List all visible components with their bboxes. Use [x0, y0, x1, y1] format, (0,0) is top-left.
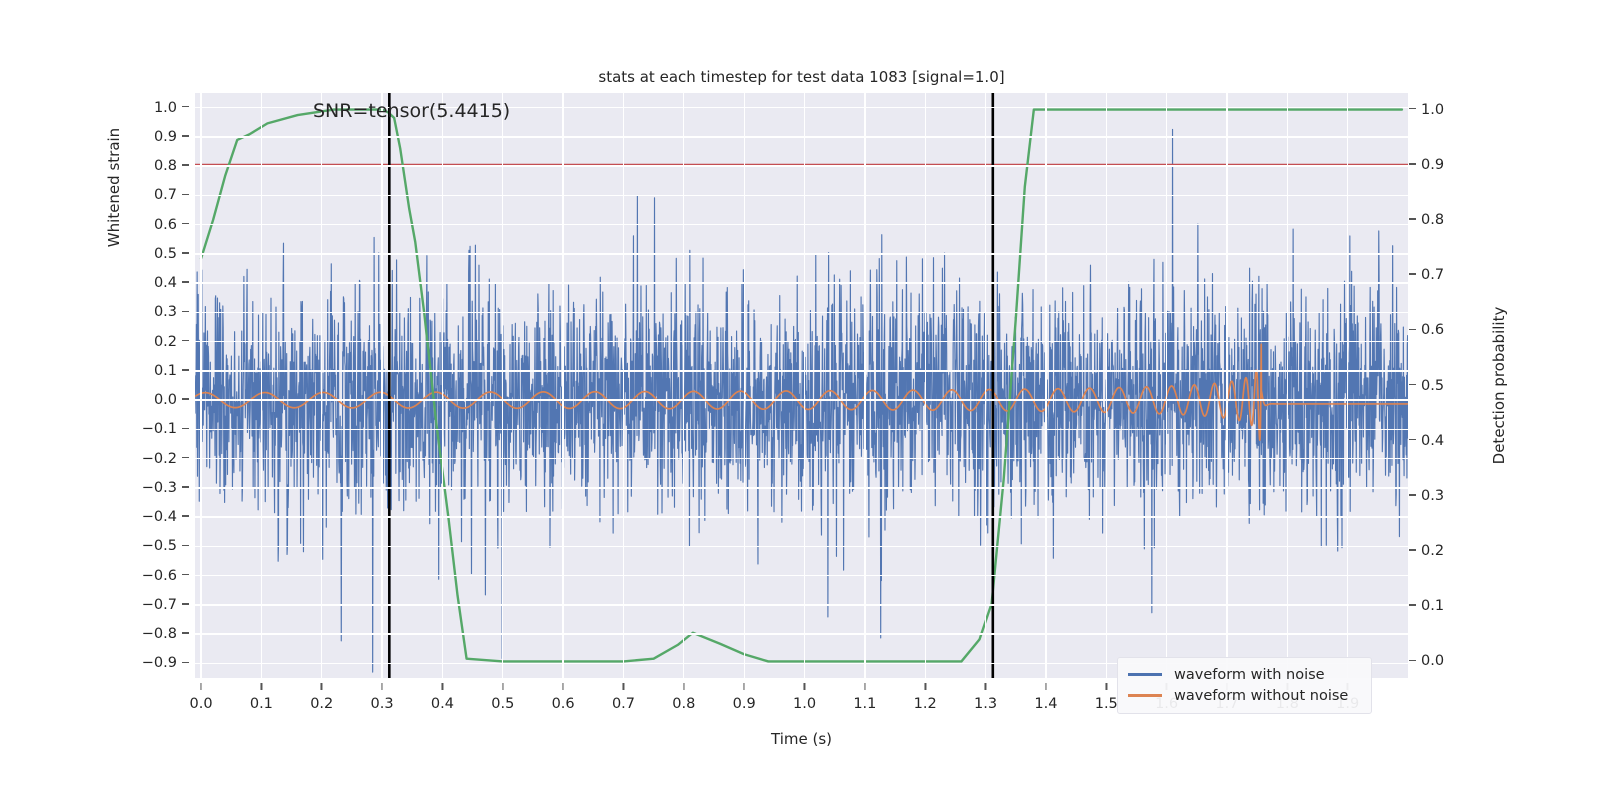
gridline-vertical — [1287, 93, 1288, 678]
gridline-vertical — [200, 93, 201, 678]
y-axis-left-tick-label: 0.9 — [154, 129, 189, 145]
x-axis-tick-label: 0.1 — [250, 683, 273, 712]
y-axis-right-tick-label: 0.9 — [1409, 157, 1444, 173]
snr-annotation: SNR=tensor(5.4415) — [313, 100, 510, 122]
gridline-vertical — [562, 93, 563, 678]
x-axis-tick-label: 0.8 — [672, 683, 695, 712]
x-axis-tick-label: 1.4 — [1034, 683, 1057, 712]
gridline-vertical — [925, 93, 926, 678]
y-axis-left-tick-label: −0.1 — [142, 421, 189, 437]
gridline-vertical — [1106, 93, 1107, 678]
y-axis-left-tick-label: 0.1 — [154, 363, 189, 379]
y-axis-left-tick-label: −0.7 — [142, 597, 189, 613]
x-axis-tick-label: 1.5 — [1095, 683, 1118, 712]
legend-item[interactable]: waveform with noise — [1128, 664, 1361, 685]
x-axis-tick-label: 1.2 — [914, 683, 937, 712]
y-axis-left-tick-label: 0.4 — [154, 275, 189, 291]
legend-item[interactable]: waveform without noise — [1128, 685, 1361, 706]
gridline-vertical — [1347, 93, 1348, 678]
x-axis-tick-label: 0.7 — [612, 683, 635, 712]
plot-area — [195, 93, 1408, 678]
y-axis-left-tick-label: −0.3 — [142, 480, 189, 496]
gridline-vertical — [1226, 93, 1227, 678]
x-axis-tick-label: 1.1 — [853, 683, 876, 712]
y-axis-right-tick-label: 0.8 — [1409, 212, 1444, 228]
legend-swatch-noise — [1128, 673, 1162, 675]
y-axis-right-tick-label: 0.1 — [1409, 598, 1444, 614]
y-axis-left-tick-label: 0.2 — [154, 334, 189, 350]
gridline-vertical — [321, 93, 322, 678]
y-axis-left-tick-label: 0.8 — [154, 158, 189, 174]
x-axis-tick-label: 0.9 — [733, 683, 756, 712]
gridline-vertical — [985, 93, 986, 678]
y-axis-left-tick-label: −0.2 — [142, 451, 189, 467]
y-axis-right-tick-label: 0.6 — [1409, 322, 1444, 338]
legend-label-clean: waveform without noise — [1174, 688, 1348, 704]
y-axis-left-tick-label: 0.5 — [154, 246, 189, 262]
gridline-vertical — [381, 93, 382, 678]
x-axis-label: Time (s) — [195, 730, 1408, 748]
gridline-vertical — [261, 93, 262, 678]
gridline-vertical — [683, 93, 684, 678]
x-axis-tick-label: 0.4 — [431, 683, 454, 712]
gridline-vertical — [1166, 93, 1167, 678]
y-axis-left-tick-label: −0.4 — [142, 509, 189, 525]
x-axis-tick-label: 0.2 — [310, 683, 333, 712]
legend-swatch-clean — [1128, 694, 1162, 696]
y-axis-left-tick-label: −0.9 — [142, 655, 189, 671]
y-axis-right-tick-label: 0.5 — [1409, 378, 1444, 394]
gridline-vertical — [744, 93, 745, 678]
y-axis-left-tick-label: 0.7 — [154, 187, 189, 203]
x-axis-tick-label: 0.6 — [552, 683, 575, 712]
gridline-vertical — [502, 93, 503, 678]
chart-title: stats at each timestep for test data 108… — [195, 68, 1408, 86]
gridline-vertical — [623, 93, 624, 678]
y-axis-right-tick-label: 0.7 — [1409, 267, 1444, 283]
y-axis-right-label: Detection probability — [1490, 93, 1530, 678]
y-axis-left-label: Whitened strain — [105, 0, 145, 480]
x-axis-tick-label: 1.3 — [974, 683, 997, 712]
x-axis-tick-label: 0.3 — [371, 683, 394, 712]
y-axis-right-tick-label: 1.0 — [1409, 102, 1444, 118]
gridline-vertical — [442, 93, 443, 678]
figure-canvas: stats at each timestep for test data 108… — [0, 0, 1600, 800]
x-axis-tick-label: 0.0 — [190, 683, 213, 712]
y-axis-left-tick-label: 0.0 — [154, 392, 189, 408]
chart-legend: waveform with noise waveform without noi… — [1117, 657, 1372, 714]
y-axis-left-tick-label: 1.0 — [154, 100, 189, 116]
x-axis-tick-label: 1.0 — [793, 683, 816, 712]
gridline-vertical — [864, 93, 865, 678]
x-axis-tick-label: 0.5 — [491, 683, 514, 712]
y-axis-left-tick-label: 0.6 — [154, 217, 189, 233]
y-axis-right-tick-label: 0.2 — [1409, 543, 1444, 559]
y-axis-right-tick-label: 0.0 — [1409, 653, 1444, 669]
y-axis-left-tick-label: −0.8 — [142, 626, 189, 642]
y-axis-left-tick-label: 0.3 — [154, 304, 189, 320]
y-axis-right-tick-label: 0.4 — [1409, 433, 1444, 449]
legend-label-noise: waveform with noise — [1174, 667, 1325, 683]
y-axis-right-tick-label: 0.3 — [1409, 488, 1444, 504]
gridline-vertical — [804, 93, 805, 678]
y-axis-left-tick-label: −0.6 — [142, 568, 189, 584]
gridline-vertical — [1045, 93, 1046, 678]
y-axis-left-tick-label: −0.5 — [142, 538, 189, 554]
